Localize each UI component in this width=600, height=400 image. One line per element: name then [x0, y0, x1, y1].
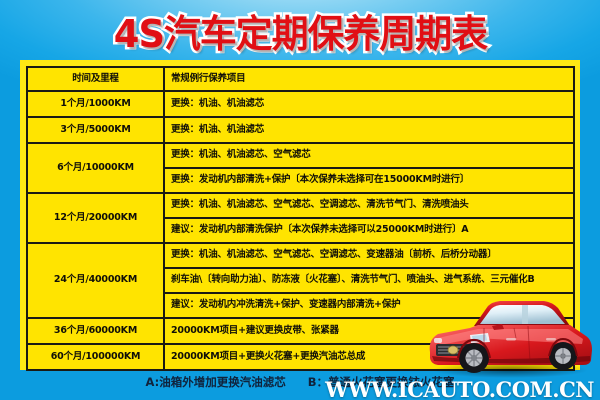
- row-items-24month-line3: 建议：发动机内冲洗清洗+保护、变速器内部清洗+保护: [164, 293, 574, 318]
- site-watermark: WWW.ICAUTO.COM.CN: [0, 377, 600, 400]
- row-interval-12month: 12个月/20000KM: [27, 193, 164, 243]
- row-items-1month: 更换：机油、机油滤芯: [164, 91, 574, 117]
- header-time-mileage: 时间及里程: [27, 67, 164, 91]
- schedule-panel: 时间及里程 常规例行保养项目 1个月/1000KM 更换：机油、机油滤芯 3个月…: [20, 60, 580, 370]
- poster-canvas: 4S汽车定期保养周期表 时间及里程 常规例行保养项目 1个月/1000KM 更换…: [0, 0, 600, 400]
- row-interval-60month: 60个月/100000KM: [27, 344, 164, 370]
- row-items-36month: 20000KM项目+建议更换皮带、张紧器: [164, 318, 574, 344]
- maintenance-schedule-table: 时间及里程 常规例行保养项目 1个月/1000KM 更换：机油、机油滤芯 3个月…: [26, 66, 575, 371]
- row-items-3month: 更换：机油、机油滤芯: [164, 117, 574, 143]
- row-interval-3month: 3个月/5000KM: [27, 117, 164, 143]
- row-items-12month-line2: 建议：发动机内部清洗保护〔本次保养未选择可以25000KM时进行〕A: [164, 218, 574, 243]
- title-bar: 4S汽车定期保养周期表: [0, 2, 600, 58]
- header-service-items: 常规例行保养项目: [164, 67, 574, 91]
- row-interval-1month: 1个月/1000KM: [27, 91, 164, 117]
- row-interval-36month: 36个月/60000KM: [27, 318, 164, 344]
- row-items-60month: 20000KM项目+更换火花塞+更换汽油芯总成: [164, 344, 574, 370]
- table-row: 24个月/40000KM 更换：机油、机油滤芯、空气滤芯、空调滤芯、变速器油〔前…: [27, 243, 574, 268]
- row-items-6month-line2: 更换：发动机内部清洗+保护〔本次保养未选择可在15000KM时进行〕: [164, 168, 574, 193]
- page-title: 4S汽车定期保养周期表: [113, 3, 486, 58]
- table-header-row: 时间及里程 常规例行保养项目: [27, 67, 574, 91]
- table-row: 60个月/100000KM 20000KM项目+更换火花塞+更换汽油芯总成: [27, 344, 574, 370]
- row-items-24month-line2: 刹车油\〔转向助力油〕、防冻液〔火花塞〕、清洗节气门、喷油头、进气系统、三元催化…: [164, 268, 574, 293]
- table-row: 12个月/20000KM 更换：机油、机油滤芯、空气滤芯、空调滤芯、清洗节气门、…: [27, 193, 574, 218]
- row-items-6month-line1: 更换：机油、机油滤芯、空气滤芯: [164, 143, 574, 168]
- table-row: 1个月/1000KM 更换：机油、机油滤芯: [27, 91, 574, 117]
- table-row: 36个月/60000KM 20000KM项目+建议更换皮带、张紧器: [27, 318, 574, 344]
- row-items-12month-line1: 更换：机油、机油滤芯、空气滤芯、空调滤芯、清洗节气门、清洗喷油头: [164, 193, 574, 218]
- table-row: 6个月/10000KM 更换：机油、机油滤芯、空气滤芯: [27, 143, 574, 168]
- table-row: 3个月/5000KM 更换：机油、机油滤芯: [27, 117, 574, 143]
- row-items-24month-line1: 更换：机油、机油滤芯、空气滤芯、空调滤芯、变速器油〔前桥、后桥分动器〕: [164, 243, 574, 268]
- row-interval-24month: 24个月/40000KM: [27, 243, 164, 318]
- row-interval-6month: 6个月/10000KM: [27, 143, 164, 193]
